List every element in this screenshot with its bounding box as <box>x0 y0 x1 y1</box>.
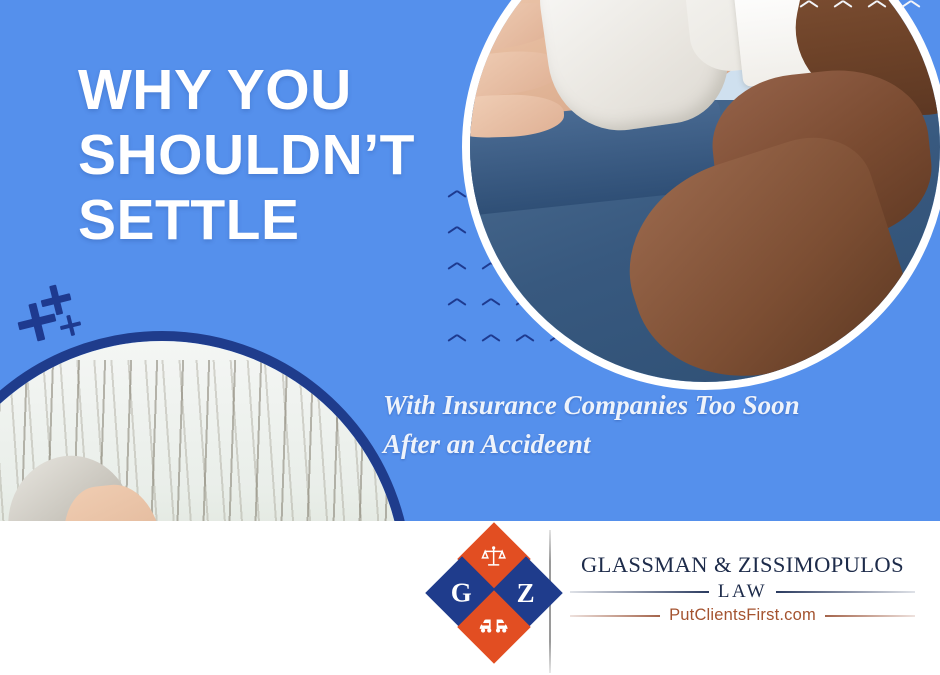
subtitle: With Insurance Companies Too Soon After … <box>383 386 883 464</box>
plus-decoration-medium <box>38 282 74 318</box>
law-rule-left <box>570 591 709 593</box>
logo-mark[interactable]: G Z <box>436 535 552 653</box>
headline-line-2: SHOULDN’T <box>78 123 478 188</box>
poster-canvas: WHY YOU SHOULDN’T SETTLE With Insurance … <box>0 0 940 675</box>
plus-decoration-small <box>58 313 83 338</box>
subtitle-line-1: With Insurance Companies Too Soon <box>383 386 883 425</box>
headline-line-1: WHY YOU <box>78 58 478 123</box>
photo-bandaged-hand-scene <box>470 0 940 382</box>
practice-word: LAW <box>709 581 776 603</box>
logo-wordmark[interactable]: GLASSMAN & ZISSIMOPULOS LAW PutClientsFi… <box>570 552 915 625</box>
car-collision-glyph <box>479 616 509 639</box>
website-rule-left <box>570 615 660 617</box>
firm-name: GLASSMAN & ZISSIMOPULOS <box>570 552 915 578</box>
headline-line-3: SETTLE <box>78 188 478 253</box>
law-rule-right <box>776 591 915 593</box>
logo-letter-g-text: G <box>451 579 472 606</box>
chevron-icon <box>448 340 466 349</box>
website-url[interactable]: PutClientsFirst.com <box>660 606 825 625</box>
chevron-icon <box>448 304 466 313</box>
headline: WHY YOU SHOULDN’T SETTLE <box>78 58 478 253</box>
website-rule-row: PutClientsFirst.com <box>570 606 915 625</box>
chevron-icon <box>448 268 466 277</box>
scales-of-justice-glyph <box>481 544 507 575</box>
logo-letter-z-text: Z <box>517 579 535 606</box>
subtitle-line-2: After an Accideent <box>383 425 883 464</box>
website-rule-right <box>825 615 915 617</box>
law-rule-row: LAW <box>570 581 915 603</box>
photo-bandaged-hand <box>462 0 940 390</box>
